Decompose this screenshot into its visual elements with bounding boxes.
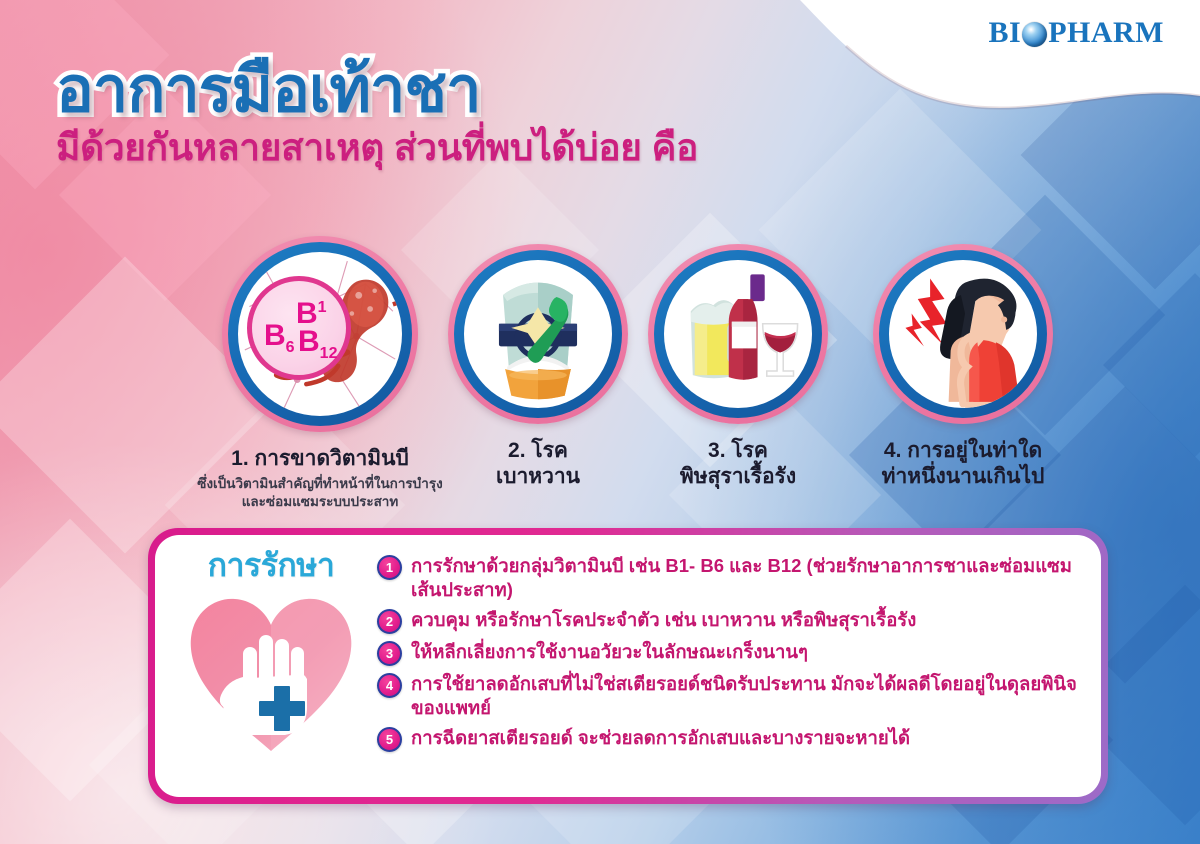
cause-ring-2	[448, 244, 628, 424]
list-text-5: การฉีดยาสเตียรอยด์ จะช่วยลดการอักเสบและบ…	[411, 725, 910, 750]
list-item[interactable]: 2 ควบคุม หรือรักษาโรคประจำตัว เช่น เบาหว…	[377, 607, 1083, 634]
cause-label-2-line2: เบาหวาน	[440, 464, 636, 490]
treatment-title: การรักษา	[208, 549, 335, 581]
cause-sublabel-1-line1: ซึ่งเป็นวิตามินสำคัญที่ทำหน้าที่ในการบำร…	[160, 475, 480, 493]
list-item[interactable]: 5 การฉีดยาสเตียรอยด์ จะช่วยลดการอักเสบแล…	[377, 725, 1083, 752]
vitamin-b-neuron-icon: B6 B1 B12	[238, 252, 402, 416]
logo-text-after: PHARM	[1048, 18, 1164, 48]
list-bullet-5: 5	[377, 727, 402, 752]
list-text-4: การใช้ยาลดอักเสบที่ไม่ใช่สเตียรอยด์ชนิดร…	[411, 671, 1083, 720]
list-item[interactable]: 4 การใช้ยาลดอักเสบที่ไม่ใช่สเตียรอยด์ชนิ…	[377, 671, 1083, 720]
vitamin-b-badge-circle: B6 B1 B12	[247, 276, 351, 380]
cause-item-3[interactable]: 3. โรค พิษสุราเรื้อรัง	[640, 244, 836, 491]
treatment-panel: การรักษา	[148, 528, 1108, 804]
list-text-2: ควบคุม หรือรักษาโรคประจำตัว เช่น เบาหวาน…	[411, 607, 916, 632]
list-text-3: ให้หลีกเลี่ยงการใช้งานอวัยวะในลักษณะเกร็…	[411, 639, 808, 664]
cause-label-2-line1: 2. โรค	[440, 438, 636, 464]
list-bullet-4: 4	[377, 673, 402, 698]
list-item[interactable]: 3 ให้หลีกเลี่ยงการใช้งานอวัยวะในลักษณะเก…	[377, 639, 1083, 666]
cause-ring-3	[648, 244, 828, 424]
sugar-bowl-icon	[464, 260, 612, 408]
vitamin-b12-label: B12	[298, 325, 337, 363]
cause-ring-4	[873, 244, 1053, 424]
cause-item-4[interactable]: 4. การอยู่ในท่าใด ท่าหนึ่งนานเกินไป	[848, 244, 1078, 491]
cause-label-3-line2: พิษสุราเรื้อรัง	[640, 464, 836, 490]
globe-o-icon	[1022, 22, 1047, 47]
list-bullet-1: 1	[377, 555, 402, 580]
page-subtitle: มีด้วยกันหลายสาเหตุ ส่วนที่พบได้บ่อย คือ	[56, 128, 816, 169]
header-block: อาการมือเท้าชา มีด้วยกันหลายสาเหตุ ส่วนท…	[56, 58, 816, 169]
list-item[interactable]: 1 การรักษาด้วยกลุ่มวิตามินบี เช่น B1- B6…	[377, 553, 1083, 602]
cause-label-1: 1. การขาดวิตามินบี	[160, 446, 480, 472]
causes-row: B6 B1 B12 1. การขาดวิตามินบี ซึ่งเป็นวิต…	[0, 236, 1200, 506]
neck-pain-posture-icon	[889, 260, 1037, 408]
vitamin-b6-label: B6	[264, 319, 295, 357]
heart-hand-cross-icon	[181, 583, 361, 764]
treatment-panel-left: การรักษา	[165, 549, 377, 783]
cause-item-1[interactable]: B6 B1 B12 1. การขาดวิตามินบี ซึ่งเป็นวิต…	[160, 236, 480, 512]
biopharm-logo: BI PHARM	[989, 18, 1165, 48]
logo-text-before: BI	[989, 18, 1022, 48]
list-text-1: การรักษาด้วยกลุ่มวิตามินบี เช่น B1- B6 แ…	[411, 553, 1083, 602]
list-bullet-3: 3	[377, 641, 402, 666]
treatment-list: 1 การรักษาด้วยกลุ่มวิตามินบี เช่น B1- B6…	[377, 549, 1083, 783]
cause-label-3-line1: 3. โรค	[640, 438, 836, 464]
page-title: อาการมือเท้าชา	[56, 58, 816, 122]
cause-label-4-line1: 4. การอยู่ในท่าใด	[848, 438, 1078, 464]
cause-label-4-line2: ท่าหนึ่งนานเกินไป	[848, 464, 1078, 490]
list-bullet-2: 2	[377, 609, 402, 634]
alcohol-drinks-icon	[664, 260, 812, 408]
cause-item-2[interactable]: 2. โรค เบาหวาน	[440, 244, 636, 491]
cause-ring-1: B6 B1 B12	[222, 236, 418, 432]
cause-sublabel-1-line2: และซ่อมแซมระบบประสาท	[160, 493, 480, 511]
